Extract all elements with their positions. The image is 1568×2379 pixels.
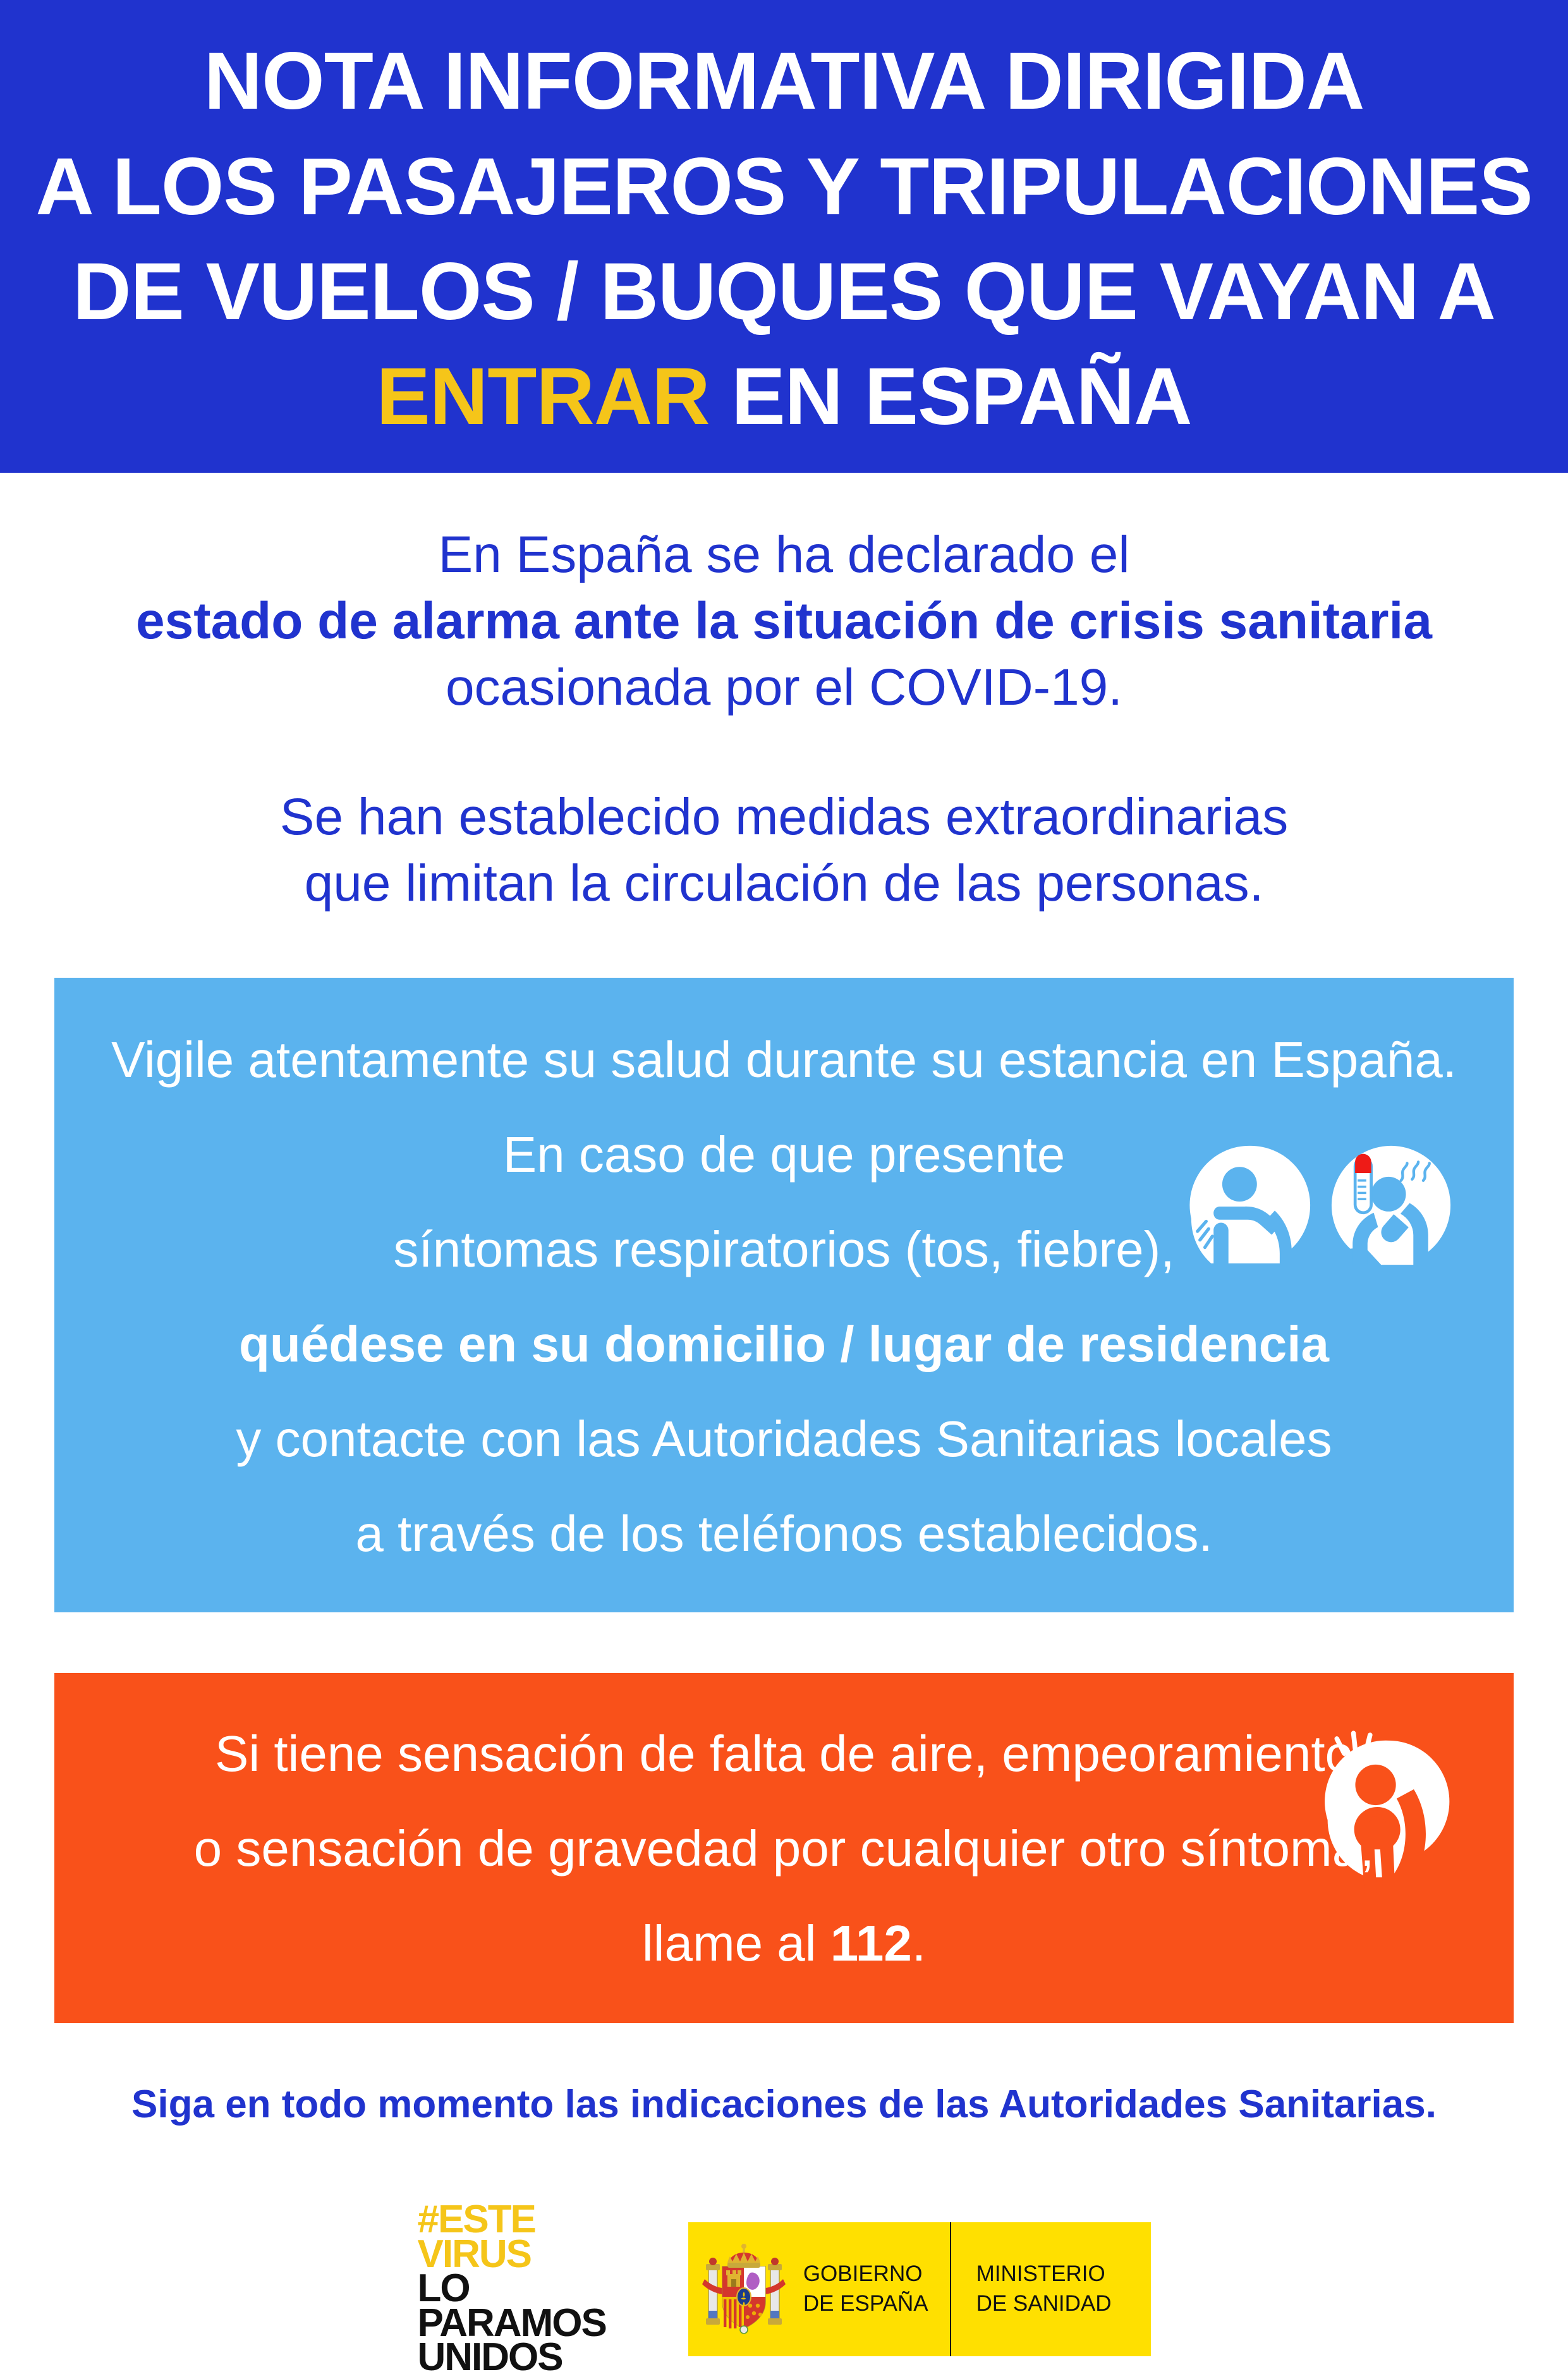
logo-row: #ESTE VIRUS LO PARAMOS UNIDOS bbox=[0, 2203, 1568, 2375]
blue-panel-spacer-5 bbox=[111, 1472, 1457, 1501]
orange-panel-line-3: llame al 112. bbox=[111, 1911, 1457, 1976]
ministerio-line-1: MINISTERIO bbox=[976, 2260, 1112, 2289]
blue-panel-line-3: síntomas respiratorios (tos, fiebre), bbox=[111, 1217, 1457, 1282]
header-title-line-2: A LOS PASAJEROS Y TRIPULACIONES bbox=[35, 135, 1532, 240]
blue-panel-spacer-2 bbox=[111, 1188, 1457, 1217]
campaign-logo-line-5: UNIDOS bbox=[418, 2340, 606, 2375]
campaign-logo-line-4: PARAMOS bbox=[418, 2306, 606, 2341]
gobierno-line-2: DE ESPAÑA bbox=[803, 2289, 928, 2319]
blue-panel-spacer-1 bbox=[111, 1093, 1457, 1122]
intro-line-3: ocasionada por el COVID-19. bbox=[126, 655, 1442, 721]
blue-panel-line-1: Vigile atentamente su salud durante su e… bbox=[111, 1027, 1457, 1093]
header-title-line-3: DE VUELOS / BUQUES QUE VAYAN A bbox=[73, 240, 1495, 344]
emergency-panel-orange: Si tiene sensación de falta de aire, emp… bbox=[54, 1673, 1514, 2023]
government-logo-right: MINISTERIO DE SANIDAD bbox=[950, 2222, 1151, 2356]
header-title-line-4-rest: EN ESPAÑA bbox=[710, 351, 1192, 442]
intro-line-1: En España se ha declarado el bbox=[126, 522, 1442, 588]
blue-panel-line-4-bold: quédese en su domicilio / lugar de resid… bbox=[111, 1311, 1457, 1377]
intro-text-block: En España se ha declarado el estado de a… bbox=[0, 473, 1568, 917]
government-logo-right-text: MINISTERIO DE SANIDAD bbox=[976, 2260, 1112, 2319]
spain-coat-of-arms-icon bbox=[702, 2239, 786, 2340]
intro-paragraph-spacer bbox=[126, 721, 1442, 784]
header-title-line-1: NOTA INFORMATIVA DIRIGIDA bbox=[204, 29, 1364, 134]
orange-panel-spacer-1 bbox=[111, 1787, 1457, 1816]
blue-panel-spacer-3 bbox=[111, 1282, 1457, 1311]
orange-panel-line-2: o sensación de gravedad por cualquier ot… bbox=[111, 1816, 1457, 1882]
gobierno-line-1: GOBIERNO bbox=[803, 2260, 928, 2289]
ministerio-line-2: DE SANIDAD bbox=[976, 2289, 1112, 2319]
government-logo-left: GOBIERNO DE ESPAÑA bbox=[702, 2239, 950, 2340]
footer-advisory-note: Siga en todo momento las indicaciones de… bbox=[0, 2081, 1568, 2128]
advice-panel-blue: Vigile atentamente su salud durante su e… bbox=[54, 978, 1514, 1612]
blue-panel-line-6: a través de los teléfonos establecidos. bbox=[111, 1501, 1457, 1567]
campaign-logo-line-3: LO bbox=[418, 2272, 606, 2306]
campaign-logo-este-virus-lo-paramos-unidos: #ESTE VIRUS LO PARAMOS UNIDOS bbox=[418, 2203, 606, 2375]
campaign-logo-line-2: VIRUS bbox=[418, 2237, 606, 2272]
orange-panel-spacer-2 bbox=[111, 1882, 1457, 1911]
intro-line-2-bold: estado de alarma ante la situación de cr… bbox=[126, 588, 1442, 655]
government-logo: GOBIERNO DE ESPAÑA MINISTERIO DE SANIDAD bbox=[688, 2222, 1151, 2356]
intro-line-4: Se han establecido medidas extraordinari… bbox=[126, 784, 1442, 851]
call-suffix-label: . bbox=[912, 1915, 926, 1971]
government-logo-left-text: GOBIERNO DE ESPAÑA bbox=[803, 2260, 928, 2319]
blue-panel-line-5: y contacte con las Autoridades Sanitaria… bbox=[111, 1406, 1457, 1472]
header-banner: NOTA INFORMATIVA DIRIGIDA A LOS PASAJERO… bbox=[0, 0, 1568, 473]
header-highlight-entrar: ENTRAR bbox=[376, 351, 709, 442]
emergency-number: 112 bbox=[830, 1915, 912, 1971]
call-prefix-label: llame al bbox=[642, 1915, 830, 1971]
blue-panel-spacer-4 bbox=[111, 1377, 1457, 1406]
header-title-line-4: ENTRAR EN ESPAÑA bbox=[376, 344, 1191, 449]
orange-panel-line-1: Si tiene sensación de falta de aire, emp… bbox=[111, 1721, 1457, 1787]
campaign-logo-line-1: #ESTE bbox=[418, 2203, 606, 2237]
intro-line-5: que limitan la circulación de las person… bbox=[126, 851, 1442, 917]
blue-panel-line-2: En caso de que presente bbox=[111, 1122, 1457, 1188]
